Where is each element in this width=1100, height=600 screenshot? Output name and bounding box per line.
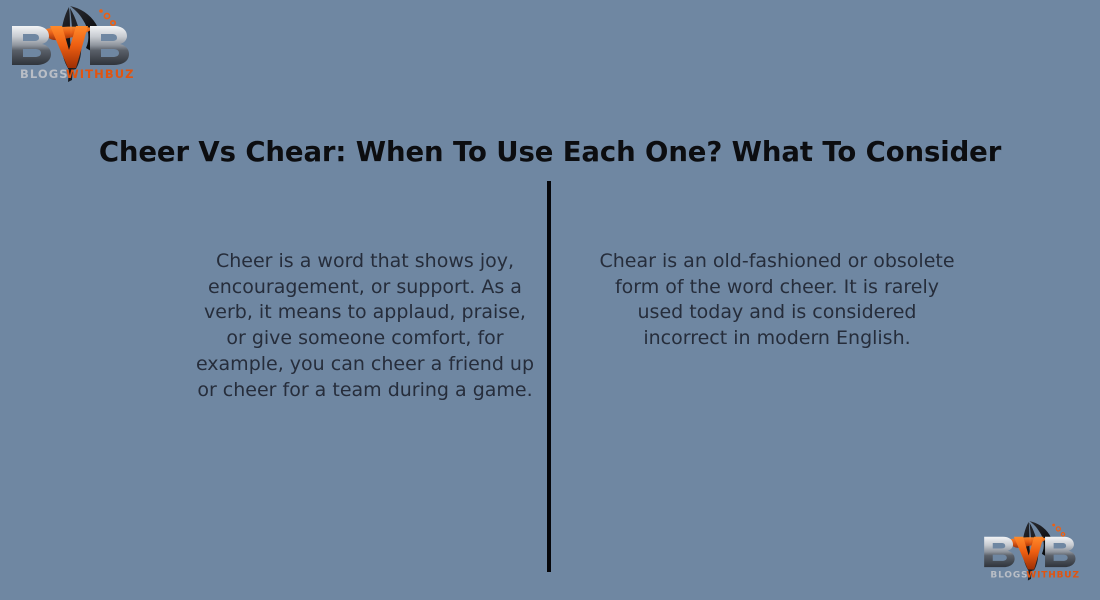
logo-letter-b-left-small [984, 537, 1014, 567]
brand-logo-bottom-right[interactable]: BLOGS WITHBUZ [972, 518, 1090, 582]
logo-tagline-part-2-small: WITHBUZ [1026, 570, 1080, 580]
comparison-text-left: Cheer is a word that shows joy, encourag… [195, 249, 535, 403]
logo-tagline-part-1: BLOGS [20, 67, 69, 81]
logo-letter-b-right [90, 26, 129, 65]
logo-dot-3-small [1052, 524, 1055, 527]
vertical-divider [547, 181, 551, 572]
logo-dot-1-small [1056, 527, 1060, 531]
logo-dot-3 [99, 9, 103, 13]
comparison-column-right: Chear is an old-fashioned or obsolete fo… [595, 249, 959, 352]
logo-letter-b-left [12, 26, 51, 65]
comparison-column-left: Cheer is a word that shows joy, encourag… [195, 249, 535, 403]
logo-tagline-part-1-small: BLOGS [990, 570, 1028, 580]
logo-letter-b-right-small [1045, 537, 1075, 567]
logo-tagline-part-2: WITHBUZ [66, 67, 135, 81]
infographic-canvas: BLOGS WITHBUZ Cheer Vs Chear: When To Us… [0, 0, 1100, 600]
page-title: Cheer Vs Chear: When To Use Each One? Wh… [0, 136, 1100, 168]
logo-dot-1 [104, 13, 109, 18]
logo-dot-2 [111, 21, 115, 25]
comparison-text-right: Chear is an old-fashioned or obsolete fo… [595, 249, 959, 352]
bwb-logo-icon-small: BLOGS WITHBUZ [972, 518, 1090, 582]
bwb-logo-icon: BLOGS WITHBUZ [6, 2, 138, 84]
logo-dot-2-small [1061, 533, 1064, 536]
brand-logo-top-left[interactable]: BLOGS WITHBUZ [6, 2, 138, 84]
